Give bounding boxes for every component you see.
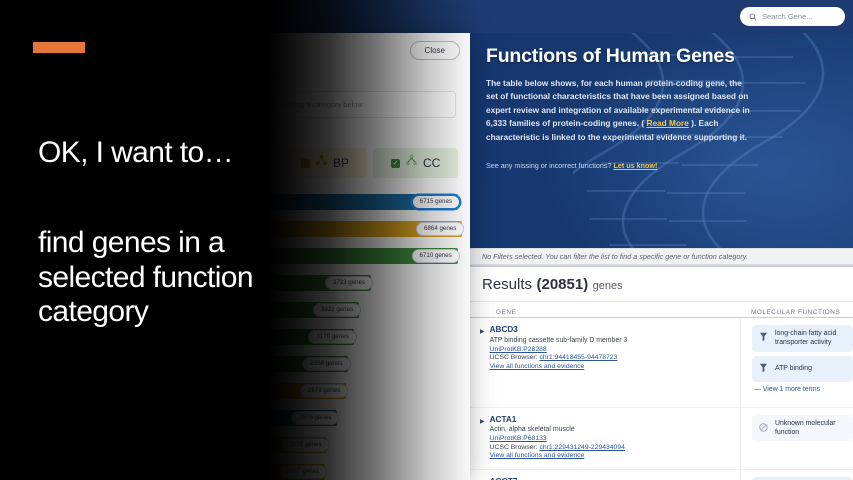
bar-track: 2575 genes: [262, 410, 462, 426]
results-title-suffix: genes: [593, 280, 623, 292]
category-bar-row[interactable]: …nsduction2575 genes: [180, 404, 470, 431]
category-distribution-chart: …ry regulator6715 genes…biological6864 g…: [180, 178, 470, 480]
results-title-prefix: Results: [482, 276, 532, 293]
bar-value-pill: 2879 genes: [300, 384, 348, 398]
aspect-toggle-bp[interactable]: BP: [283, 148, 368, 178]
category-distribution-modal: Close …egory Distribution …ific category…: [180, 33, 470, 480]
category-label: …logical: [190, 360, 262, 367]
search-placeholder: Search Gene...: [762, 12, 812, 21]
table-row[interactable]: ▶ ABCD3 ATP binding cassette sub-family …: [470, 318, 853, 408]
function-chip[interactable]: ATP binding: [752, 356, 853, 382]
let-us-know-link[interactable]: Let us know!: [613, 161, 657, 170]
gene-cell: ▶ ACTA1 Actin, alpha skeletal muscle Uni…: [470, 408, 740, 469]
ucsc-coords-link[interactable]: chr1:94418455-94478723: [539, 354, 617, 361]
ucsc-label: UCSC Browser:: [490, 444, 538, 451]
aspect-toggle-mf[interactable]: ✓ MF: [192, 148, 277, 178]
expand-caret-icon[interactable]: ▶: [480, 415, 485, 461]
gene-cell: ▶ ABCD3 ATP binding cassette sub-family …: [470, 318, 740, 407]
expand-caret-icon[interactable]: ▶: [480, 477, 485, 480]
aspect-glyph-icon: [315, 154, 328, 172]
category-bar-row[interactable]: …logical2958 genes: [180, 350, 470, 377]
view-more-terms-link[interactable]: — View 1 more terms: [754, 386, 853, 393]
category-label: … of …on DNA …: [190, 441, 262, 448]
category-label: …abolism…cal: [190, 252, 262, 259]
function-label: Unknown molecular function: [775, 419, 846, 438]
column-header-gene: GENE: [496, 309, 516, 316]
checkbox-icon[interactable]: ✓: [210, 159, 219, 168]
category-bar-row[interactable]: …ductor2879 genes: [180, 377, 470, 404]
ucsc-coords-link[interactable]: chr1:229431249-229434094: [539, 444, 624, 451]
aspect-glyph-icon: [405, 154, 418, 172]
category-search-input[interactable]: …ific category here, or clicking a categ…: [194, 91, 456, 118]
category-bar-row[interactable]: …abolism…cal6710 genes: [180, 242, 470, 269]
ucsc-browser-row: UCSC Browser: chr1:229431249-229434094: [490, 444, 625, 451]
hero-description: The table below shows, for each human pr…: [486, 77, 754, 144]
gene-search-input[interactable]: Search Gene...: [740, 7, 845, 26]
function-chip[interactable]: [752, 477, 853, 480]
uniprot-link[interactable]: UniProtKB:P68133: [490, 435, 625, 442]
category-label: …biological: [190, 225, 262, 232]
screenshot-stage: GO Human Functionome Search Gene...: [0, 0, 853, 480]
aspect-glyph-icon: [224, 154, 237, 172]
checkbox-icon[interactable]: ✓: [391, 159, 400, 168]
category-label: …roc…sing: [190, 279, 262, 286]
ucsc-label: UCSC Browser:: [490, 354, 538, 361]
ucsc-browser-row: UCSC Browser: chr1:94418455-94478723: [490, 354, 628, 361]
bar-value-pill: 6715 genes: [412, 195, 460, 209]
category-search-placeholder: …ific category here, or clicking a categ…: [204, 100, 363, 109]
search-icon: [749, 8, 757, 26]
category-label: …activity: [190, 468, 262, 475]
results-table-header: GENE MOLECULAR FUNCTIONS: [470, 301, 853, 318]
bar-track: 6715 genes: [262, 194, 462, 210]
funnel-icon: [759, 329, 768, 347]
missing-functions-note: See any missing or incorrect functions? …: [486, 161, 837, 170]
modal-toolbar: Close: [180, 33, 470, 60]
results-count: (20851): [536, 276, 588, 293]
column-header-molecular-functions: MOLECULAR FUNCTIONS: [751, 309, 840, 316]
category-bar-row[interactable]: …ry regulator6715 genes: [180, 188, 470, 215]
bar-value-pill: 2575 genes: [291, 411, 339, 425]
gene-symbol[interactable]: ACOT7: [490, 477, 518, 480]
filter-status-text: No Filters selected. You can filter the …: [482, 252, 748, 261]
category-label: …: [190, 306, 262, 313]
bar-value-pill: 3170 genes: [308, 330, 356, 344]
checkbox-icon[interactable]: [301, 159, 310, 168]
gene-symbol[interactable]: ABCD3: [490, 325, 628, 334]
bar-track: 2958 genes: [262, 356, 462, 372]
bar-value-pill: 2958 genes: [302, 357, 350, 371]
hero-banner: Functions of Human Genes The table below…: [470, 33, 853, 248]
bar-track: 3733 genes: [262, 275, 462, 291]
bar-value-pill: 2157 genes: [279, 465, 327, 479]
category-label: …ry regulator: [190, 198, 262, 205]
no-entry-icon: [759, 419, 768, 437]
function-chip[interactable]: Unknown molecular function: [752, 415, 853, 442]
bar-track: 2239 genes: [262, 437, 462, 453]
aspect-label-cc: CC: [423, 156, 440, 170]
bar-track: 3170 genes: [262, 329, 462, 345]
app-brand: GO Human Functionome: [18, 10, 159, 24]
uniprot-link[interactable]: UniProtKB:P28288: [490, 346, 628, 353]
bar-track: 2157 genes: [262, 464, 462, 480]
read-more-link[interactable]: Read More: [646, 118, 688, 128]
bar-track: 6864 genes: [262, 221, 462, 237]
category-label: …ductor: [190, 387, 262, 394]
bar-value-pill: 3322 genes: [313, 303, 361, 317]
filter-status-bar: No Filters selected. You can filter the …: [470, 248, 853, 265]
bar-track: 6710 genes: [262, 248, 462, 264]
modal-title: …egory Distribution: [180, 60, 470, 79]
gene-description: Actin, alpha skeletal muscle: [490, 426, 625, 433]
view-all-functions-link[interactable]: View all functions and evidence: [490, 363, 628, 370]
category-bar-row[interactable]: …3170 genes: [180, 323, 470, 350]
category-label: …nsduction: [190, 414, 262, 421]
category-bar-row[interactable]: …biological6864 genes: [180, 215, 470, 242]
hero-title: Functions of Human Genes: [486, 45, 837, 68]
results-panel: Results (20851) genes GENE MOLECULAR FUN…: [470, 265, 853, 480]
app-topbar: GO Human Functionome Search Gene...: [0, 0, 853, 33]
function-label: ATP binding: [775, 364, 812, 373]
aspect-label-bp: BP: [333, 156, 349, 170]
expand-caret-icon[interactable]: ▶: [480, 325, 485, 399]
molecular-functions-cell: [740, 470, 853, 480]
missing-prefix: See any missing or incorrect functions?: [486, 161, 611, 170]
funnel-icon: [759, 360, 768, 378]
results-header: Results (20851) genes: [470, 267, 853, 301]
bar-track: 2879 genes: [262, 383, 462, 399]
category-bar-row[interactable]: … of …on DNA …2239 genes: [180, 431, 470, 458]
category-label: …: [190, 333, 262, 340]
gene-symbol[interactable]: ACTA1: [490, 415, 625, 424]
bar-track: 3322 genes: [262, 302, 462, 318]
table-row[interactable]: ▶ ACTA1 Actin, alpha skeletal muscle Uni…: [470, 408, 853, 470]
function-label: long-chain fatty acid transporter activi…: [775, 329, 846, 348]
aspect-toggle-cc[interactable]: ✓ CC: [373, 148, 458, 178]
function-chip[interactable]: long-chain fatty acid transporter activi…: [752, 325, 853, 352]
table-row[interactable]: ▶ ACOT7: [470, 470, 853, 480]
gene-cell: ▶ ACOT7: [470, 470, 740, 480]
close-button[interactable]: Close: [410, 41, 460, 60]
category-bar-row[interactable]: …3322 genes: [180, 296, 470, 323]
bar-value-pill: 6710 genes: [412, 249, 460, 263]
view-all-functions-link[interactable]: View all functions and evidence: [490, 452, 625, 459]
bar-value-pill: 2239 genes: [281, 438, 329, 452]
aspect-label-mf: MF: [242, 156, 259, 170]
bar-value-pill: 3733 genes: [325, 276, 373, 290]
molecular-functions-cell: long-chain fatty acid transporter activi…: [740, 318, 853, 407]
category-bar-row[interactable]: …roc…sing3733 genes: [180, 269, 470, 296]
aspect-toggle-group: ✓ MF BP ✓ CC: [180, 139, 470, 178]
bar-value-pill: 6864 genes: [416, 222, 464, 236]
modal-hint-text: …ts in category list below: [180, 118, 470, 139]
molecular-functions-cell: Unknown molecular function: [740, 408, 853, 469]
gene-description: ATP binding cassette sub-family D member…: [490, 337, 628, 344]
category-bar-row[interactable]: …activity2157 genes: [180, 458, 470, 480]
